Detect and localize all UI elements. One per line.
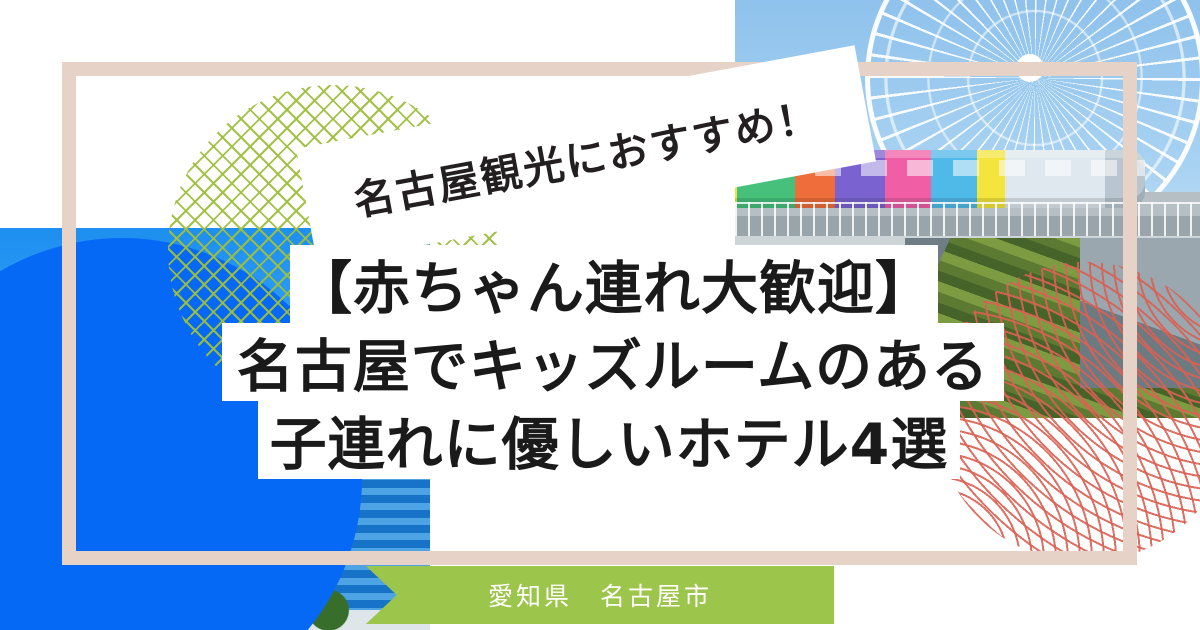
title-line-2: 名古屋でキッズルームのある: [222, 323, 1004, 401]
location-ribbon-label: 愛知県 名古屋市: [488, 577, 712, 613]
frame-border-right: [1123, 62, 1137, 565]
title-line-3: 子連れに優しいホテル4選: [258, 401, 960, 479]
frame-border-left: [62, 62, 76, 565]
title-line-1: 【赤ちゃん連れ大歓迎】: [290, 245, 938, 323]
frame-border-top: [62, 62, 1137, 76]
location-ribbon: 愛知県 名古屋市: [366, 566, 834, 624]
frame-border-bottom: [62, 551, 1137, 565]
banner-canvas: 名古屋観光におすすめ！ 【赤ちゃん連れ大歓迎】 名古屋でキッズルームのある 子連…: [0, 0, 1200, 630]
